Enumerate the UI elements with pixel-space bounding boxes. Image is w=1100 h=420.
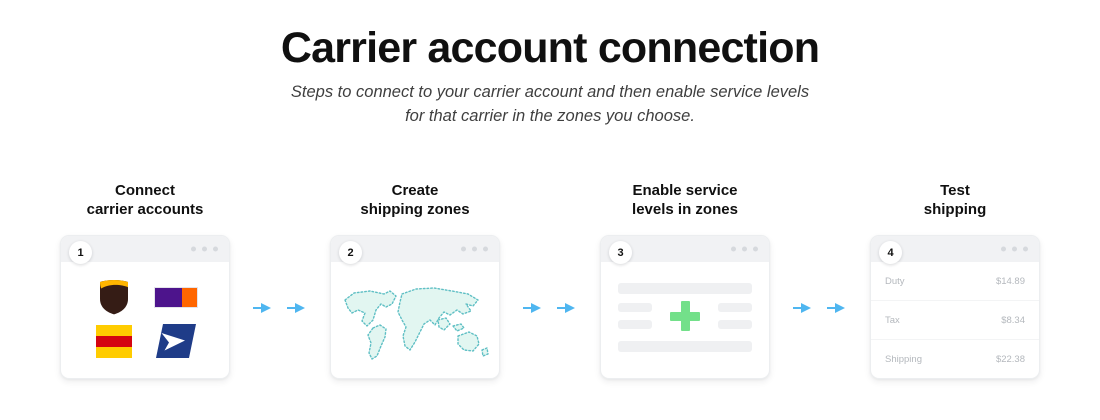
world-map-icon [340,280,490,364]
table-row: Tax $8.34 [871,301,1039,340]
page-title: Carrier account connection [0,26,1100,71]
step-number-badge: 4 [879,241,902,264]
arrow-right-icon [557,302,577,314]
fee-table: Duty $14.89 Tax $8.34 Shipping $22.38 [871,262,1039,377]
carrier-logo-grid [61,276,229,362]
window-dots-icon [1001,247,1028,252]
dhl-logo-icon [96,325,132,358]
table-row: Shipping $22.38 [871,340,1039,377]
connector-arrows [785,302,855,314]
step-card-service-levels[interactable]: 3 [600,235,770,379]
connector-arrows [245,302,315,314]
arrow-right-icon [253,302,273,314]
step-create-shipping-zones[interactable]: Create shipping zones 2 [315,182,515,379]
fee-amount: $22.38 [996,354,1025,365]
fee-amount: $8.34 [1001,315,1025,326]
card-body: Duty $14.89 Tax $8.34 Shipping $22.38 [871,262,1039,377]
arrow-right-icon [287,302,307,314]
step-card-carrier-accounts[interactable]: 1 [60,235,230,379]
step-label: Test shipping [924,182,987,220]
arrow-right-icon [793,302,813,314]
fee-label: Shipping [885,354,922,365]
card-body [331,262,499,377]
skeleton-bar [718,320,752,329]
step-label: Enable service levels in zones [632,182,738,220]
skeleton-bar [618,283,752,294]
skeleton-bar [618,341,752,352]
step-label: Create shipping zones [360,182,469,220]
skeleton-bar [618,303,652,312]
connector-arrows [515,302,585,314]
arrow-right-icon [827,302,847,314]
card-body [601,262,769,377]
step-number-badge: 2 [339,241,362,264]
skeleton-bar [618,320,652,329]
page-subtitle: Steps to connect to your carrier account… [290,81,810,128]
step-number-badge: 1 [69,241,92,264]
step-connect-carrier-accounts[interactable]: Connect carrier accounts 1 [45,182,245,379]
step-card-shipping-zones[interactable]: 2 [330,235,500,379]
skeleton-bar [718,303,752,312]
service-level-skeleton [618,283,752,352]
fee-label: Tax [885,315,900,326]
page-header: Carrier account connection Steps to conn… [0,0,1100,128]
window-dots-icon [731,247,758,252]
step-test-shipping[interactable]: Test shipping 4 Duty $14.89 Tax $8.34 [855,182,1055,379]
window-dots-icon [461,247,488,252]
plus-icon[interactable] [670,301,700,331]
step-label: Connect carrier accounts [87,182,204,220]
arrow-right-icon [523,302,543,314]
step-card-test-shipping[interactable]: 4 Duty $14.89 Tax $8.34 Shipping $ [870,235,1040,379]
usps-logo-icon [156,324,196,358]
steps-row: Connect carrier accounts 1 [0,182,1100,379]
fee-amount: $14.89 [996,276,1025,287]
step-enable-service-levels[interactable]: Enable service levels in zones 3 [585,182,785,379]
fee-label: Duty [885,276,905,287]
card-body [61,262,229,377]
table-row: Duty $14.89 [871,262,1039,301]
fedex-logo-icon [154,287,198,308]
window-dots-icon [191,247,218,252]
skeleton-middle [618,303,752,329]
step-number-badge: 3 [609,241,632,264]
ups-logo-icon [99,279,129,315]
